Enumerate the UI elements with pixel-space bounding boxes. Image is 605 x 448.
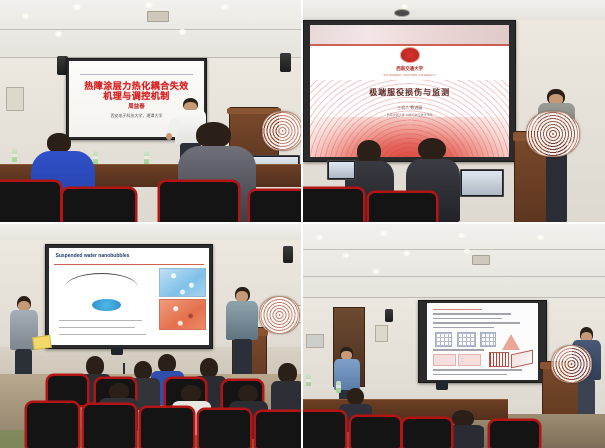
ceiling-light-icon	[463, 249, 471, 254]
chair	[48, 376, 87, 405]
collage-panel-top-right: 西南交通大学 SOUTHWEST JIAOTONG UNIVERSITY 极端服…	[303, 0, 605, 222]
tripod	[123, 363, 125, 375]
wall-speaker-icon	[385, 309, 393, 322]
triangle-schematic	[502, 334, 520, 350]
commemorative-plaque	[259, 296, 300, 334]
wall-control-panel	[375, 325, 388, 342]
yellow-envelope	[32, 335, 52, 350]
ceiling	[303, 0, 605, 20]
collage-panel-bottom-right	[303, 224, 605, 448]
chair	[369, 193, 435, 222]
laptop	[460, 169, 504, 198]
chair	[84, 405, 135, 448]
ceiling-light-icon	[536, 235, 545, 240]
laptop	[327, 160, 356, 180]
projection-screen: Suspended water nanobubbles	[45, 244, 213, 349]
video-camera	[111, 347, 123, 355]
water-bottle	[306, 374, 311, 386]
chair	[250, 191, 301, 222]
mesh-grid-b	[457, 332, 477, 347]
ceiling-light-icon	[457, 233, 466, 238]
ceiling-camera-icon	[394, 9, 410, 17]
bar-chart	[489, 352, 509, 367]
slide-content	[427, 303, 538, 380]
ceiling-light-icon	[403, 251, 411, 256]
mesh-grid-c	[480, 332, 496, 347]
collage-panel-top-left: 热障涂层力热化耦合失效 机理与调控机制 周益春 西安电子科技大学，湘潭大学	[0, 0, 301, 222]
slide-university-name: 西南交通大学	[310, 66, 509, 72]
chair	[403, 419, 451, 448]
commemorative-plaque	[262, 111, 301, 151]
chair	[199, 410, 250, 448]
wall-monitor	[306, 334, 324, 348]
wall-speaker-icon	[283, 246, 293, 263]
chair	[27, 403, 78, 448]
ceiling	[0, 224, 301, 240]
chair	[303, 189, 363, 222]
result-box	[458, 354, 481, 366]
wall-speaker-icon	[280, 53, 291, 72]
audience-member	[271, 363, 301, 417]
slide-university-name-en: SOUTHWEST JIAOTONG UNIVERSITY	[310, 74, 509, 77]
screen-surface	[419, 301, 546, 382]
video-camera	[436, 381, 448, 390]
chair	[160, 182, 238, 222]
chair	[351, 417, 399, 448]
university-logo-icon	[400, 47, 420, 63]
lattice-cube	[511, 350, 533, 369]
slide-title: 极端服役损伤与监测	[310, 87, 509, 98]
ceiling	[303, 224, 605, 298]
ceiling-light-icon	[379, 231, 388, 236]
chair	[63, 189, 135, 222]
slide-title: Suspended water nanobubbles	[56, 253, 130, 259]
result-box	[433, 354, 456, 366]
bubble-lens-icon	[92, 299, 121, 312]
ceiling-projector-icon	[472, 255, 490, 265]
projection-screen	[418, 300, 547, 383]
slide-content: Suspended water nanobubbles	[49, 248, 209, 345]
commemorative-plaque	[551, 345, 592, 383]
water-bottle	[144, 151, 149, 164]
photo-collage: 热障涂层力热化耦合失效 机理与调控机制 周益春 西安电子科技大学，湘潭大学	[0, 0, 605, 448]
commemorative-plaque	[526, 111, 579, 157]
micrograph-orange	[159, 299, 206, 330]
slide-author: 三机人 数进展	[310, 105, 509, 111]
chair	[141, 408, 192, 448]
collage-panel-bottom-left: Suspended water nanobubbles	[0, 224, 301, 448]
slide-affiliation: 西南交通大学 力学与航空航天学院	[310, 113, 509, 117]
ceiling-projector-icon	[147, 11, 169, 22]
screen-surface: Suspended water nanobubbles	[46, 245, 212, 348]
water-bottle	[12, 149, 17, 162]
chair	[0, 182, 60, 222]
mesh-grid-a	[435, 332, 453, 347]
chair	[490, 421, 538, 448]
chair	[256, 412, 301, 448]
micrograph-blue	[159, 268, 206, 297]
ceiling-seam	[0, 29, 301, 30]
ceiling-light-icon	[178, 29, 187, 35]
wall-control-panel	[6, 87, 24, 111]
chair	[303, 412, 345, 448]
